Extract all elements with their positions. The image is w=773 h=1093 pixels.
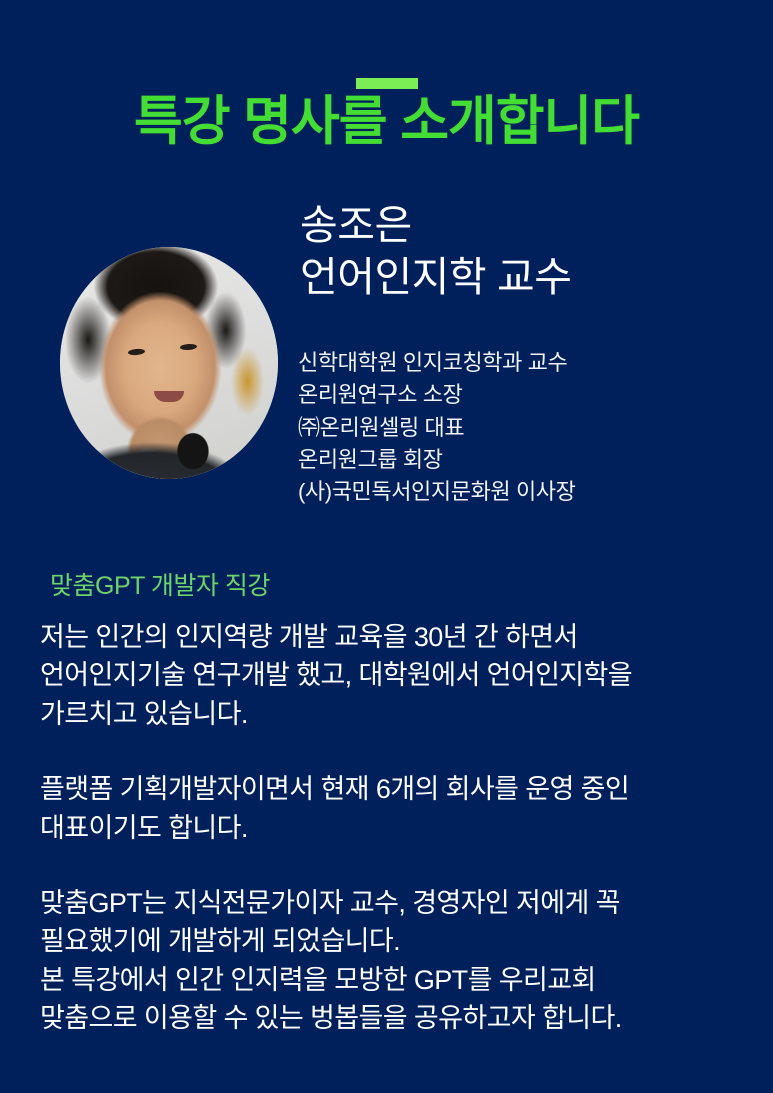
portrait-eye-right-detail bbox=[180, 344, 197, 351]
speaker-role: 언어인지학 교수 bbox=[300, 251, 571, 303]
portrait-mouth-detail bbox=[154, 391, 184, 402]
credential-item: ㈜온리원셀링 대표 bbox=[298, 412, 576, 444]
paragraph-line: 대표이기도 합니다. bbox=[40, 809, 755, 847]
paragraph-1: 저는 인간의 인지역량 개발 교육을 30년 간 하면서 언어인지기술 연구개발… bbox=[40, 618, 755, 733]
paragraph-line: 플랫폼 기획개발자이면서 현재 6개의 회사를 운영 중인 bbox=[40, 770, 755, 808]
credential-item: 온리원연구소 소장 bbox=[298, 379, 576, 411]
paragraph-2: 플랫폼 기획개발자이면서 현재 6개의 회사를 운영 중인 대표이기도 합니다. bbox=[40, 770, 755, 847]
speaker-credentials-list: 신학대학원 인지코칭학과 교수 온리원연구소 소장 ㈜온리원셀링 대표 온리원그… bbox=[298, 347, 576, 509]
promo-poster: 특강 명사를 소개합니다 송조은 언어인지학 교수 신학대학원 인지코칭학과 교… bbox=[0, 0, 773, 1093]
paragraph-line: 언어인지기술 연구개발 했고, 대학원에서 언어인지학을 bbox=[40, 656, 755, 694]
body-paragraphs: 저는 인간의 인지역량 개발 교육을 30년 간 하면서 언어인지기술 연구개발… bbox=[40, 618, 755, 1037]
paragraph-3: 맞춤GPT는 지식전문가이자 교수, 경영자인 저에게 꼭 필요했기에 개발하게… bbox=[40, 884, 755, 1037]
speaker-name-block: 송조은 언어인지학 교수 bbox=[300, 199, 571, 303]
credential-item: 신학대학원 인지코칭학과 교수 bbox=[298, 347, 576, 379]
speaker-section: 송조은 언어인지학 교수 신학대학원 인지코칭학과 교수 온리원연구소 소장 ㈜… bbox=[0, 185, 773, 510]
portrait-eye-left-detail bbox=[127, 348, 144, 355]
paragraph-line: 본 특강에서 인간 인지력을 모방한 GPT를 우리교회 bbox=[40, 961, 755, 999]
paragraph-line: 맞춤GPT는 지식전문가이자 교수, 경영자인 저에게 꼭 bbox=[40, 884, 755, 922]
paragraph-line: 저는 인간의 인지역량 개발 교육을 30년 간 하면서 bbox=[40, 618, 755, 656]
speaker-photo bbox=[60, 247, 278, 479]
speaker-portrait-avatar bbox=[60, 247, 278, 479]
body-section: 맞춤GPT 개발자 직강 저는 인간의 인지역량 개발 교육을 30년 간 하면… bbox=[0, 570, 773, 1093]
paragraph-line: 맞춤으로 이용할 수 있는 벙봅들을 공유하고자 합니다. bbox=[40, 999, 755, 1037]
credential-item: (사)국민독서인지문화원 이사장 bbox=[298, 476, 576, 508]
credential-item: 온리원그룹 회장 bbox=[298, 444, 576, 476]
page-title: 특강 명사를 소개합니다 bbox=[0, 92, 773, 153]
paragraph-line: 가르치고 있습니다. bbox=[40, 695, 755, 733]
speaker-name: 송조은 bbox=[300, 199, 571, 251]
section-kicker: 맞춤GPT 개발자 직강 bbox=[50, 570, 270, 603]
poster-header: 특강 명사를 소개합니다 bbox=[0, 0, 773, 180]
title-dash-accent bbox=[356, 78, 418, 89]
paragraph-line: 필요했기에 개발하게 되었습니다. bbox=[40, 922, 755, 960]
